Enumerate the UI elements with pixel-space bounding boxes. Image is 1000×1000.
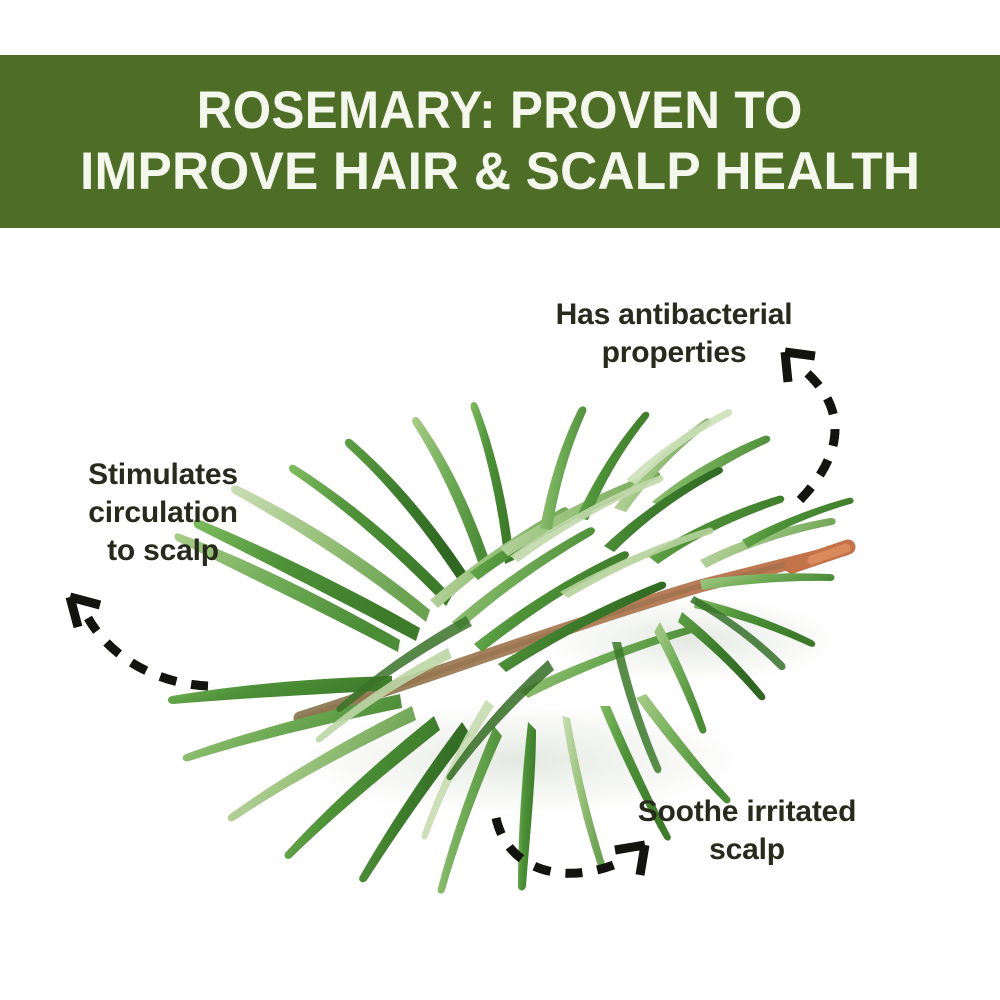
callout-soothe-line-2: scalp <box>592 831 902 869</box>
callout-circulation-line-2: circulation <box>38 494 288 532</box>
callout-circulation-line-3: to scalp <box>38 532 288 570</box>
page-title-line-1: ROSEMARY: PROVEN TO <box>197 81 803 141</box>
header-banner: ROSEMARY: PROVEN TO IMPROVE HAIR & SCALP… <box>0 55 1000 228</box>
callout-circulation: Stimulates circulation to scalp <box>38 456 288 570</box>
callout-soothe-line-1: Soothe irritated <box>592 793 902 831</box>
callout-antibacterial: Has antibacterial properties <box>498 296 850 372</box>
callout-antibacterial-line-1: Has antibacterial <box>498 296 850 334</box>
infographic-poster: ROSEMARY: PROVEN TO IMPROVE HAIR & SCALP… <box>0 0 1000 1000</box>
callout-soothe: Soothe irritated scalp <box>592 793 902 869</box>
callout-circulation-line-1: Stimulates <box>38 456 288 494</box>
callout-antibacterial-line-2: properties <box>498 334 850 372</box>
page-title-line-2: IMPROVE HAIR & SCALP HEALTH <box>80 142 920 202</box>
